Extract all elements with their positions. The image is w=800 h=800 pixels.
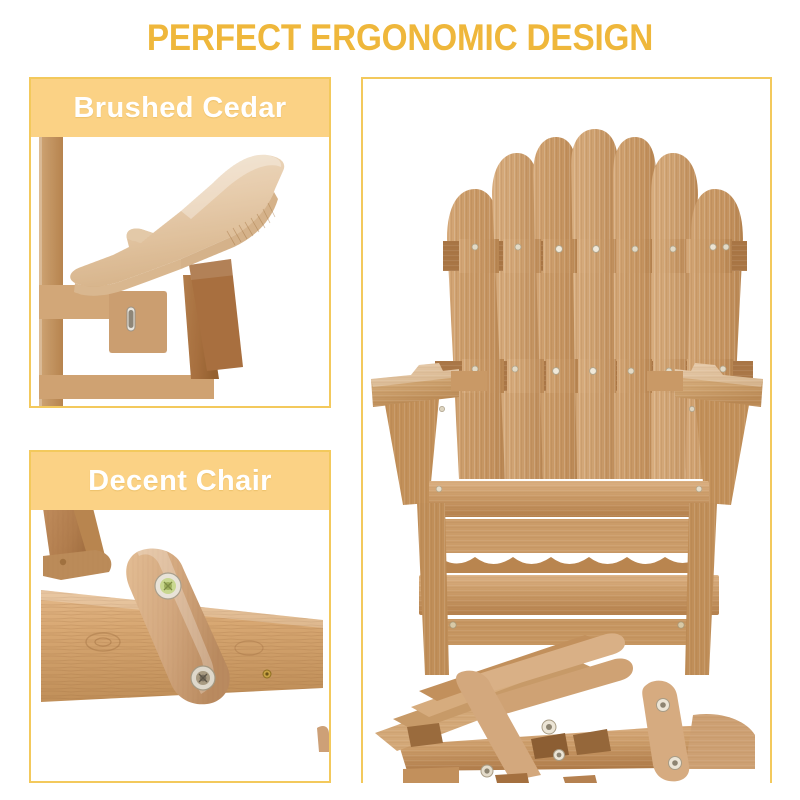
- adirondack-chair-illustration: [363, 79, 770, 783]
- product-infographic: { "title": "PERFECT ERGONOMIC DESIGN", "…: [0, 0, 800, 800]
- panel-brushed-cedar: Brushed Cedar: [29, 77, 331, 408]
- screw-lower: [191, 666, 215, 690]
- photo-adirondack-chair: [363, 79, 770, 783]
- screw-upper: [155, 573, 181, 599]
- banner-label-decent-chair: Decent Chair: [88, 465, 272, 498]
- banner-brushed-cedar: Brushed Cedar: [31, 79, 329, 137]
- page-title: PERFECT ERGONOMIC DESIGN: [40, 18, 760, 58]
- banner-label-brushed-cedar: Brushed Cedar: [73, 92, 286, 125]
- banner-decent-chair: Decent Chair: [31, 452, 329, 510]
- panel-decent-chair: Decent Chair: [29, 450, 331, 783]
- panel-main-chair: [361, 77, 772, 783]
